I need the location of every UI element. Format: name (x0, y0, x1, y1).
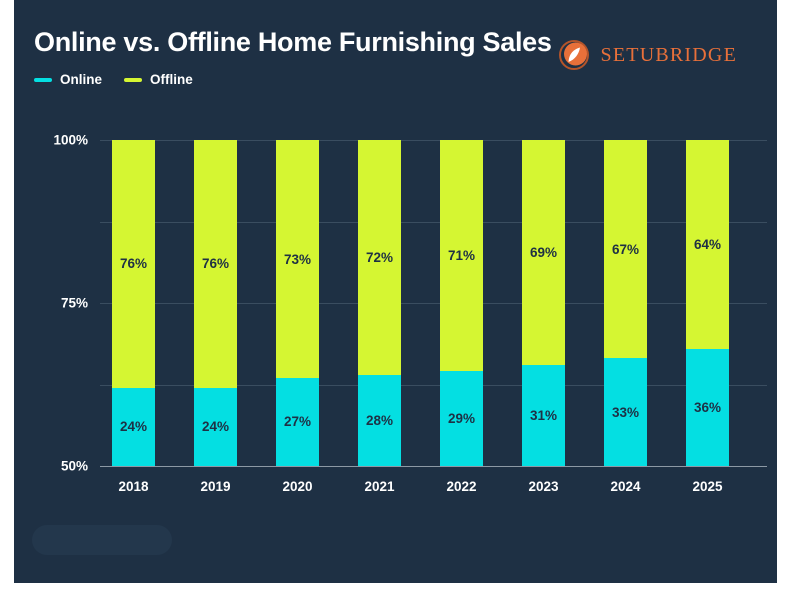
bar-value-offline: 76% (120, 256, 147, 271)
bar-segment-online[interactable]: 24% (112, 388, 155, 466)
brand-logo: SETUBRIDGE (557, 38, 737, 72)
bar-group-2019[interactable]: 76%24%2019 (194, 140, 237, 466)
bar-segment-offline[interactable]: 72% (358, 140, 401, 375)
bar-segment-online[interactable]: 31% (522, 365, 565, 466)
bar-group-2025[interactable]: 64%36%2025 (686, 140, 729, 466)
legend-swatch-icon (124, 78, 142, 82)
bar-group-2021[interactable]: 72%28%2021 (358, 140, 401, 466)
bar-segment-online[interactable]: 33% (604, 358, 647, 466)
bar-value-online: 33% (612, 405, 639, 420)
bar-segment-online[interactable]: 29% (440, 371, 483, 466)
bar-group-2020[interactable]: 73%27%2020 (276, 140, 319, 466)
plot-area: 0%25%50%75%100% 76%24%201876%24%201973%2… (100, 140, 767, 466)
bar-segment-online[interactable]: 28% (358, 375, 401, 466)
bar-group-2022[interactable]: 71%29%2022 (440, 140, 483, 466)
legend-item-label: Online (60, 72, 102, 87)
bar-segment-offline[interactable]: 76% (194, 140, 237, 388)
bar-group-2018[interactable]: 76%24%2018 (112, 140, 155, 466)
legend-item-label: Offline (150, 72, 193, 87)
bar-segment-online[interactable]: 36% (686, 349, 729, 466)
x-axis-tick-label: 2022 (440, 479, 483, 494)
bar-value-offline: 71% (448, 248, 475, 263)
bar-value-offline: 69% (530, 245, 557, 260)
bar-value-offline: 72% (366, 250, 393, 265)
bar-value-offline: 67% (612, 242, 639, 257)
y-axis-tick-label: 50% (61, 459, 88, 474)
bar-value-offline: 64% (694, 237, 721, 252)
bar-group-2024[interactable]: 67%33%2024 (604, 140, 647, 466)
watermark-blob (32, 525, 172, 555)
x-axis-tick-label: 2023 (522, 479, 565, 494)
chart-header: Online vs. Offline Home Furnishing Sales… (34, 26, 757, 96)
x-axis-tick-label: 2020 (276, 479, 319, 494)
bar-value-offline: 76% (202, 256, 229, 271)
legend-item-online[interactable]: Online (34, 72, 102, 87)
chart-legend: OnlineOffline (34, 72, 193, 87)
bar-segment-online[interactable]: 24% (194, 388, 237, 466)
x-axis-tick-label: 2019 (194, 479, 237, 494)
y-axis-tick-label: 75% (61, 296, 88, 311)
bar-value-online: 29% (448, 411, 475, 426)
bar-value-online: 27% (284, 414, 311, 429)
bar-value-online: 31% (530, 408, 557, 423)
bar-segment-offline[interactable]: 76% (112, 140, 155, 388)
brand-name: SETUBRIDGE (601, 44, 737, 67)
x-axis-tick-label: 2018 (112, 479, 155, 494)
x-axis-tick-label: 2024 (604, 479, 647, 494)
bar-value-online: 24% (120, 419, 147, 434)
bar-segment-offline[interactable]: 69% (522, 140, 565, 365)
chart-card: Online vs. Offline Home Furnishing Sales… (14, 0, 777, 583)
x-axis-tick-label: 2025 (686, 479, 729, 494)
bar-series: 76%24%201876%24%201973%27%202072%28%2021… (100, 140, 767, 466)
bar-value-online: 36% (694, 400, 721, 415)
bar-group-2023[interactable]: 69%31%2023 (522, 140, 565, 466)
bar-segment-offline[interactable]: 71% (440, 140, 483, 371)
leaf-circle-icon (557, 38, 591, 72)
bar-value-online: 28% (366, 413, 393, 428)
bar-segment-offline[interactable]: 67% (604, 140, 647, 358)
legend-swatch-icon (34, 78, 52, 82)
legend-item-offline[interactable]: Offline (124, 72, 193, 87)
y-axis-tick-label: 100% (53, 133, 88, 148)
bar-value-online: 24% (202, 419, 229, 434)
bar-value-offline: 73% (284, 252, 311, 267)
bar-segment-offline[interactable]: 64% (686, 140, 729, 349)
bar-segment-offline[interactable]: 73% (276, 140, 319, 378)
x-axis-tick-label: 2021 (358, 479, 401, 494)
gridline-0: 0% (100, 466, 767, 467)
bar-segment-online[interactable]: 27% (276, 378, 319, 466)
